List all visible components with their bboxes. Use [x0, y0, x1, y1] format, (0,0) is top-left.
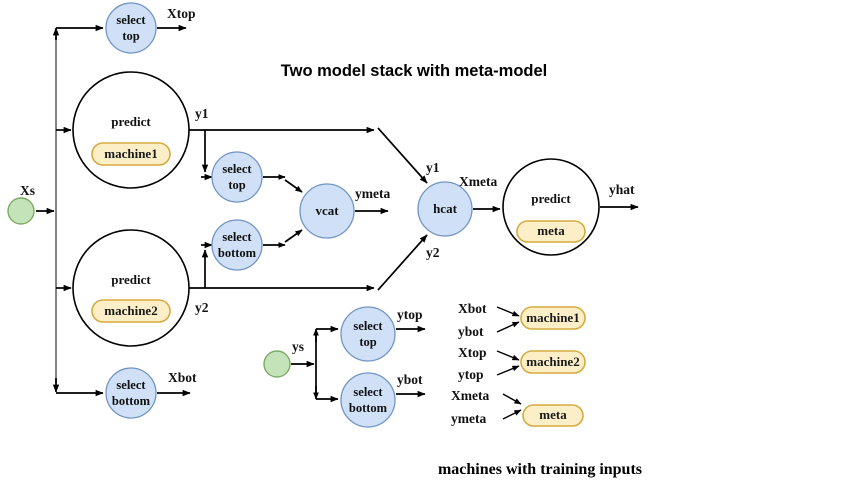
- predict-meta-op: predict: [531, 191, 571, 206]
- meta-pill-label: meta: [537, 223, 565, 238]
- diagram-title-bottom: machines with training inputs: [438, 461, 642, 478]
- edge-select-top-2-to-vcat: [285, 180, 302, 192]
- predict-machine1-op: predict: [111, 114, 151, 129]
- hcat-label: hcat: [433, 201, 458, 216]
- node-select-bottom-1[interactable]: select bottom: [106, 368, 156, 418]
- xs-input-node[interactable]: [8, 198, 34, 224]
- flow-diagram: Xs select top Xtop predict machine1: [0, 0, 850, 481]
- select-bottom-2-label-line1: select: [222, 230, 252, 244]
- edge-label-ytop: ytop: [397, 307, 423, 322]
- edge-label-ymeta: ymeta: [355, 186, 390, 201]
- edge-label-y2-a: y2: [195, 300, 209, 315]
- diagram-title-top: Two model stack with meta-model: [281, 62, 548, 80]
- select-bottom-2-label-line2: bottom: [218, 246, 257, 260]
- edge-y1-diagonal-to-hcat: [378, 128, 427, 183]
- edge-label-y2-b: y2: [426, 245, 440, 260]
- edge-label-y1-a: y1: [195, 106, 209, 121]
- ys-select-top-label-line2: top: [359, 335, 376, 349]
- select-bottom-1-label-line2: bottom: [112, 394, 151, 408]
- predict-machine2-op: predict: [111, 272, 151, 287]
- legend-row-2-machine: meta: [539, 407, 567, 422]
- xs-input-group: Xs: [8, 183, 54, 224]
- legend-row-2-arrow-y: [503, 410, 521, 419]
- legend-row-0-machine: machine1: [526, 310, 579, 325]
- legend-row-0-arrow-y: [497, 322, 519, 332]
- legend-row-1-arrow-y: [497, 366, 519, 375]
- ys-select-top-label-line1: select: [353, 319, 383, 333]
- machine2-pill-label: machine2: [104, 303, 157, 318]
- node-predict-machine1[interactable]: predict machine1: [73, 72, 189, 188]
- ys-select-bottom-label-line1: select: [353, 385, 383, 399]
- ys-select-bottom-label-line2: bottom: [349, 401, 388, 415]
- select-top-1-label-line1: select: [116, 13, 146, 27]
- edge-label-y1-b: y1: [426, 160, 440, 175]
- ys-input-node[interactable]: [264, 351, 290, 377]
- machine1-pill-label: machine1: [104, 146, 157, 161]
- edge-label-xmeta: Xmeta: [459, 174, 497, 189]
- select-bottom-1-label-line1: select: [116, 378, 146, 392]
- legend-row-0-arrow-x: [497, 307, 519, 316]
- legend-row-2-arrow-x: [503, 394, 521, 404]
- predict-machine1-circle[interactable]: [73, 72, 189, 188]
- legend-row-1-arrow-x: [497, 351, 519, 360]
- node-select-top-2[interactable]: select top: [212, 152, 262, 202]
- node-predict-machine2[interactable]: predict machine2: [73, 230, 189, 346]
- node-vcat[interactable]: vcat: [300, 184, 354, 238]
- select-top-2-label-line1: select: [222, 162, 252, 176]
- node-select-bottom-2[interactable]: select bottom: [212, 220, 262, 270]
- edge-label-ys: ys: [292, 339, 304, 354]
- legend-row-0-input-y: ybot: [458, 324, 484, 339]
- edge-y2-diagonal-to-hcat: [378, 235, 427, 290]
- node-hcat[interactable]: hcat: [418, 182, 472, 236]
- vcat-label: vcat: [315, 203, 339, 218]
- diagram-canvas: Xs select top Xtop predict machine1: [0, 0, 850, 481]
- legend-row-machine1: Xbot ybot machine1: [458, 301, 585, 339]
- edge-label-xbot: Xbot: [168, 370, 197, 385]
- edge-label-xs: Xs: [20, 183, 35, 198]
- legend-row-1-input-x: Xtop: [458, 345, 487, 360]
- node-select-top-1[interactable]: select top: [106, 3, 156, 53]
- legend-row-1-machine: machine2: [526, 354, 579, 369]
- predict-machine2-circle[interactable]: [73, 230, 189, 346]
- edge-label-ybot: ybot: [397, 372, 423, 387]
- select-top-2-label-line2: top: [228, 178, 245, 192]
- legend-row-machine2: Xtop ytop machine2: [458, 345, 585, 382]
- ys-input-group: ys: [264, 339, 314, 377]
- edge-label-xtop: Xtop: [167, 6, 196, 21]
- legend-row-0-input-x: Xbot: [458, 301, 487, 316]
- legend-row-2-input-y: ymeta: [451, 411, 486, 426]
- edge-select-bottom-2-to-vcat: [285, 230, 302, 242]
- select-top-1-label-line2: top: [122, 29, 139, 43]
- node-predict-meta[interactable]: predict meta: [503, 159, 599, 255]
- legend-row-1-input-y: ytop: [458, 367, 484, 382]
- node-ys-select-top[interactable]: select top: [341, 307, 395, 361]
- edge-label-yhat: yhat: [609, 182, 635, 197]
- node-ys-select-bottom[interactable]: select bottom: [341, 373, 395, 427]
- legend-row-2-input-x: Xmeta: [451, 388, 489, 403]
- legend-row-meta: Xmeta ymeta meta: [451, 388, 583, 426]
